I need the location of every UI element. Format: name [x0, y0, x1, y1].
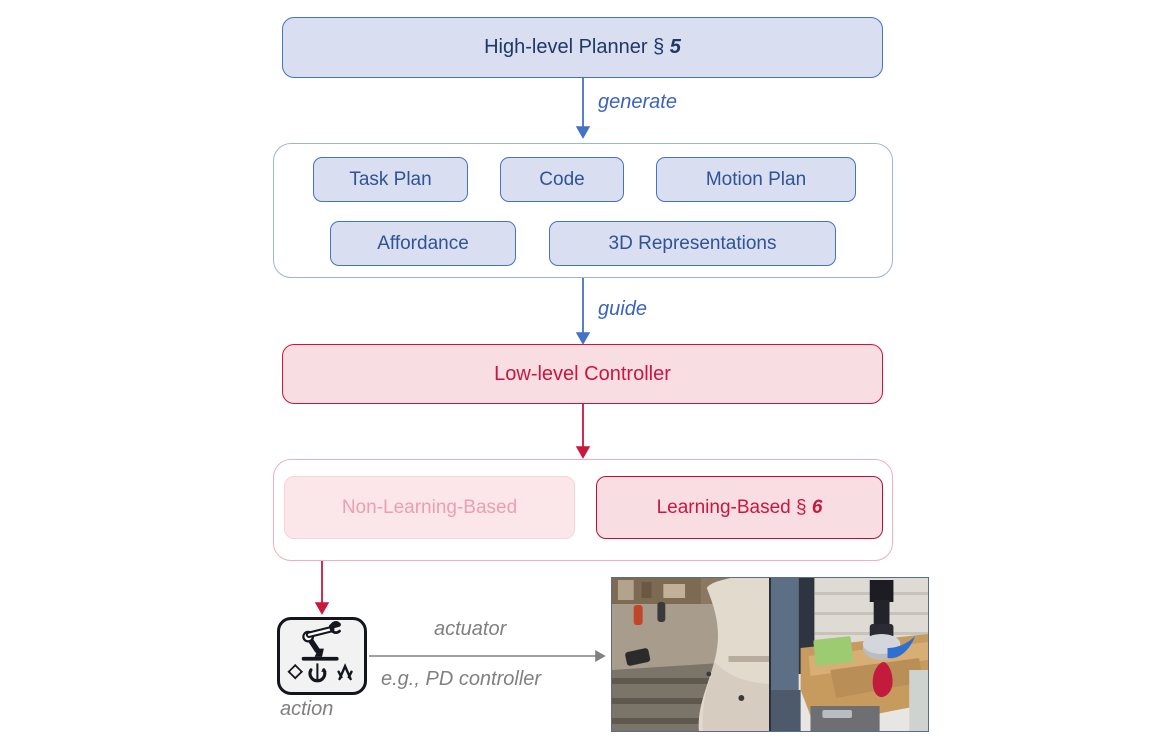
chip-code-label: Code: [539, 169, 584, 191]
chip-learning-section-sign: §: [796, 497, 807, 519]
planner-section-number: 5: [670, 36, 681, 59]
planner-label: High-level Planner: [484, 36, 647, 59]
chip-code[interactable]: Code: [500, 157, 624, 202]
chip-learning-section-number: 6: [812, 497, 823, 519]
robot-arm-icon[interactable]: [277, 617, 367, 695]
chip-task-plan[interactable]: Task Plan: [313, 157, 468, 202]
edge-label-actuator: actuator: [434, 618, 506, 641]
high-level-planner-node[interactable]: High-level Planner § 5: [282, 17, 883, 78]
chip-non-learning-based-label: Non-Learning-Based: [342, 497, 517, 519]
robot-arm-table-photo: [612, 578, 769, 731]
chip-learning-based-label: Learning-Based: [657, 497, 791, 519]
controller-label: Low-level Controller: [494, 363, 671, 386]
chip-affordance-label: Affordance: [377, 233, 469, 255]
edge-label-guide: guide: [598, 298, 647, 321]
edge-label-generate: generate: [598, 91, 677, 114]
diagram-canvas: High-level Planner § 5 generate Task Pla…: [0, 0, 1169, 741]
low-level-controller-node[interactable]: Low-level Controller: [282, 344, 883, 404]
chip-motion-plan-label: Motion Plan: [706, 169, 806, 191]
action-icon-caption: action: [280, 698, 333, 721]
chip-non-learning-based[interactable]: Non-Learning-Based: [284, 476, 575, 539]
edge-label-pd-controller: e.g., PD controller: [381, 668, 541, 691]
chip-3d-representations-label: 3D Representations: [609, 233, 777, 255]
chip-task-plan-label: Task Plan: [349, 169, 431, 191]
robot-photo-strip: [611, 577, 929, 732]
planner-section-sign: §: [653, 36, 664, 59]
chip-motion-plan[interactable]: Motion Plan: [656, 157, 856, 202]
chip-3d-representations[interactable]: 3D Representations: [549, 221, 836, 266]
chip-learning-based[interactable]: Learning-Based § 6: [596, 476, 883, 539]
chip-affordance[interactable]: Affordance: [330, 221, 516, 266]
robot-gripper-kitchen-photo: [769, 578, 928, 731]
